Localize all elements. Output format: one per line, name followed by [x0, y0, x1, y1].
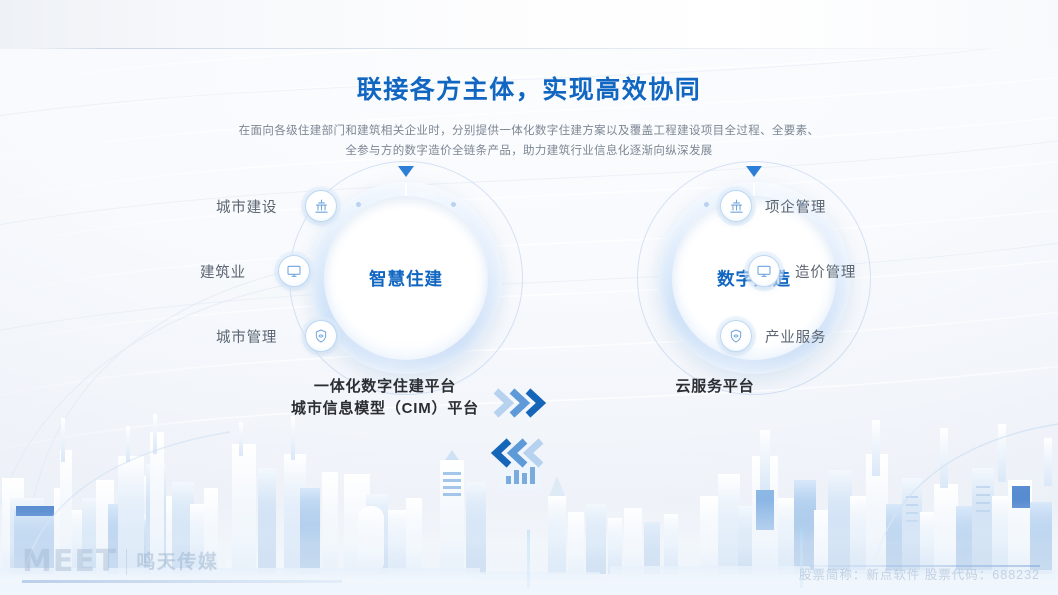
- watermark-meet-en: MEET: [22, 547, 117, 577]
- caption-left-line-2: 城市信息模型（CIM）平台: [190, 398, 580, 420]
- shield-leaf-icon: [313, 328, 329, 344]
- node-right-1[interactable]: [720, 190, 752, 222]
- header-bar: [0, 0, 1058, 49]
- ring-dot-right-1: [704, 202, 709, 207]
- chevrons-left-icon: [496, 441, 541, 465]
- watermark-meet-cn: 鸣天传媒: [136, 553, 218, 572]
- shield-leaf-icon: [728, 328, 744, 344]
- main-title: 联接各方主体，实现高效协同: [0, 70, 1058, 106]
- stock-info-rule: [796, 565, 1040, 567]
- caption-right-line-1: 云服务平台: [520, 376, 910, 398]
- watermark-divider: [126, 549, 127, 575]
- ring-core-left: 智慧住建: [336, 208, 476, 348]
- slide-root: 02 业务实力 / 数字建筑 Epoint 新点 联接各方主体，实现高效协同 在…: [0, 0, 1058, 595]
- node-label-right-2: 造价管理: [795, 261, 856, 282]
- watermark-meet: MEET 鸣天传媒: [22, 547, 218, 577]
- node-left-2[interactable]: [278, 255, 310, 287]
- monitor-screen-icon: [286, 263, 302, 279]
- node-label-left-2: 建筑业: [200, 261, 246, 282]
- node-label-right-1: 项企管理: [765, 196, 826, 217]
- node-right-2[interactable]: [748, 255, 780, 287]
- node-label-left-1: 城市建设: [216, 196, 277, 217]
- ring-dot-left-2: [451, 202, 456, 207]
- triangle-marker-icon-right: [746, 166, 762, 177]
- node-left-3[interactable]: [305, 320, 337, 352]
- ring-graphic-left: 智慧住建: [310, 182, 502, 374]
- government-building-icon: [728, 198, 745, 215]
- node-left-1[interactable]: [305, 190, 337, 222]
- ring-dot-left-1: [356, 202, 361, 207]
- triangle-marker-icon-left: [398, 166, 414, 177]
- subtitle-line-2: 全参与方的数字造价全链条产品，助力建筑行业信息化逐渐向纵深发展: [0, 142, 1058, 158]
- header-divider: [26, 48, 1032, 49]
- watermark-underline-bar: [22, 580, 342, 583]
- node-label-left-3: 城市管理: [216, 326, 277, 347]
- node-label-right-3: 产业服务: [765, 326, 826, 347]
- monitor-screen-icon: [756, 263, 772, 279]
- subtitle-line-1: 在面向各级住建部门和建筑相关企业时，分别提供一体化数字住建方案以及覆盖工程建设项…: [0, 122, 1058, 138]
- core-label-left: 智慧住建: [369, 266, 443, 291]
- caption-right: 云服务平台: [520, 376, 910, 398]
- node-right-3[interactable]: [720, 320, 752, 352]
- government-building-icon: [313, 198, 330, 215]
